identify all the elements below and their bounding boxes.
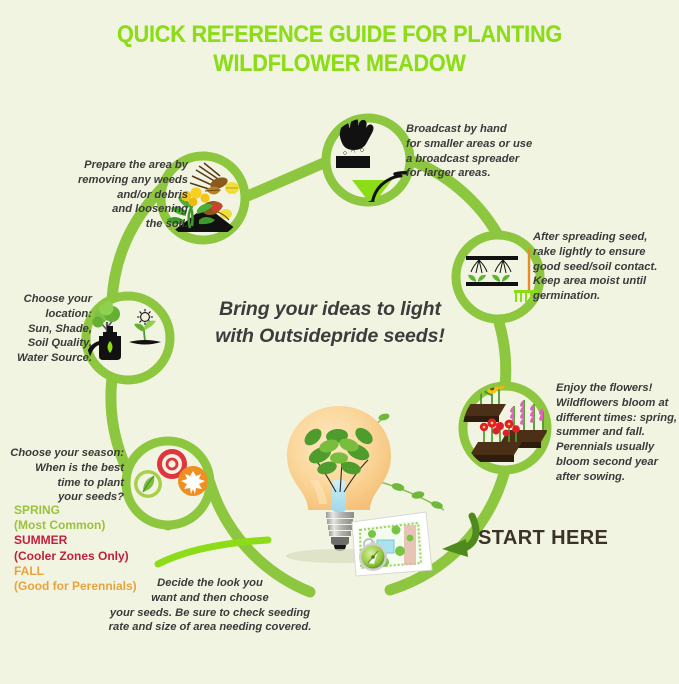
spring-leaf-icon [134,470,162,498]
season-legend: SPRING (Most Common) SUMMER (Cooler Zone… [14,503,194,594]
season-summer-label: SUMMER [14,533,194,548]
step-circle-enjoy-flowers [455,375,548,470]
season-spring-note: (Most Common) [14,518,194,533]
fall-leaf-icon [178,466,208,496]
season-fall-note: (Good for Perennials) [14,579,194,594]
center-tagline: Bring your ideas to light with Outsidepr… [180,296,480,349]
callout-prepare-area: Prepare the area by removing any weeds a… [48,158,188,232]
garden-plan-icon [352,512,432,576]
callout-choose-location: Choose your location: Sun, Shade, Soil Q… [2,292,92,366]
start-here-label: START HERE [478,527,608,550]
season-spring-label: SPRING [14,503,194,518]
step-circle-broadcast-seed [326,118,410,214]
callout-choose-season: Choose your season: When is the best tim… [6,446,124,505]
season-fall-label: FALL [14,564,194,579]
step-circle-choose-location [86,296,170,380]
callout-enjoy-flowers: Enjoy the flowers! Wildflowers bloom at … [556,381,679,484]
callout-broadcast-seed: Broadcast by hand for smaller areas or u… [406,122,566,181]
infographic-canvas: QUICK REFERENCE GUIDE FOR PLANTING WILDF… [0,0,679,679]
season-summer-note: (Cooler Zones Only) [14,549,194,564]
callout-rake-and-water: After spreading seed, rake lightly to en… [533,230,679,304]
